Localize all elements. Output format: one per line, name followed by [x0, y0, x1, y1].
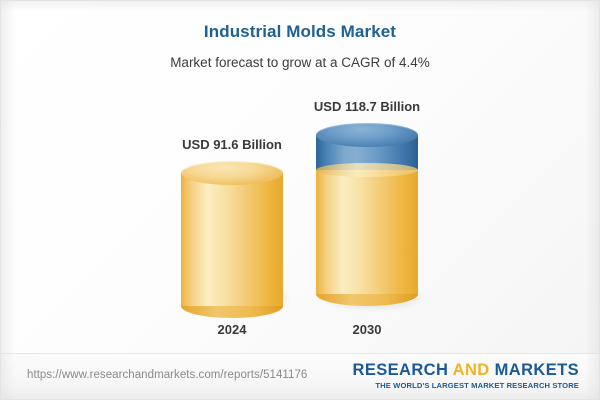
bar-segment-base-2030	[316, 170, 418, 294]
brand-name-part2: MARKETS	[490, 361, 579, 379]
bar-top-cap-2024	[181, 161, 283, 185]
bar-body-2024	[181, 173, 283, 306]
brand-name-part1: RESEARCH	[353, 361, 453, 379]
footer: https://www.researchandmarkets.com/repor…	[1, 353, 599, 400]
infographic-card: Industrial Molds Market Market forecast …	[0, 0, 600, 400]
report-url[interactable]: https://www.researchandmarkets.com/repor…	[27, 369, 307, 381]
bar-segment-seam-2030	[316, 163, 418, 177]
bar-cylinder-2024[interactable]	[181, 161, 283, 306]
brand-name: RESEARCH AND MARKETS	[353, 361, 580, 380]
axis-label-2030: 2030	[307, 322, 427, 337]
bar-top-cap-2030	[316, 123, 418, 147]
bar-body-base-2030	[316, 170, 418, 294]
brand-name-and: AND	[453, 361, 490, 379]
axis-label-2024: 2024	[172, 322, 292, 337]
cylinder-bar-chart: USD 91.6 Billion USD 118.7 Billion	[1, 1, 600, 353]
brand-tagline: THE WORLD'S LARGEST MARKET RESEARCH STOR…	[353, 381, 580, 390]
brand-logo[interactable]: RESEARCH AND MARKETS THE WORLD'S LARGEST…	[353, 361, 580, 390]
value-label-2030: USD 118.7 Billion	[267, 99, 467, 114]
value-label-2024: USD 91.6 Billion	[132, 137, 332, 152]
bar-segment-base-2024	[181, 173, 283, 306]
bar-cylinder-2030[interactable]	[316, 123, 418, 306]
